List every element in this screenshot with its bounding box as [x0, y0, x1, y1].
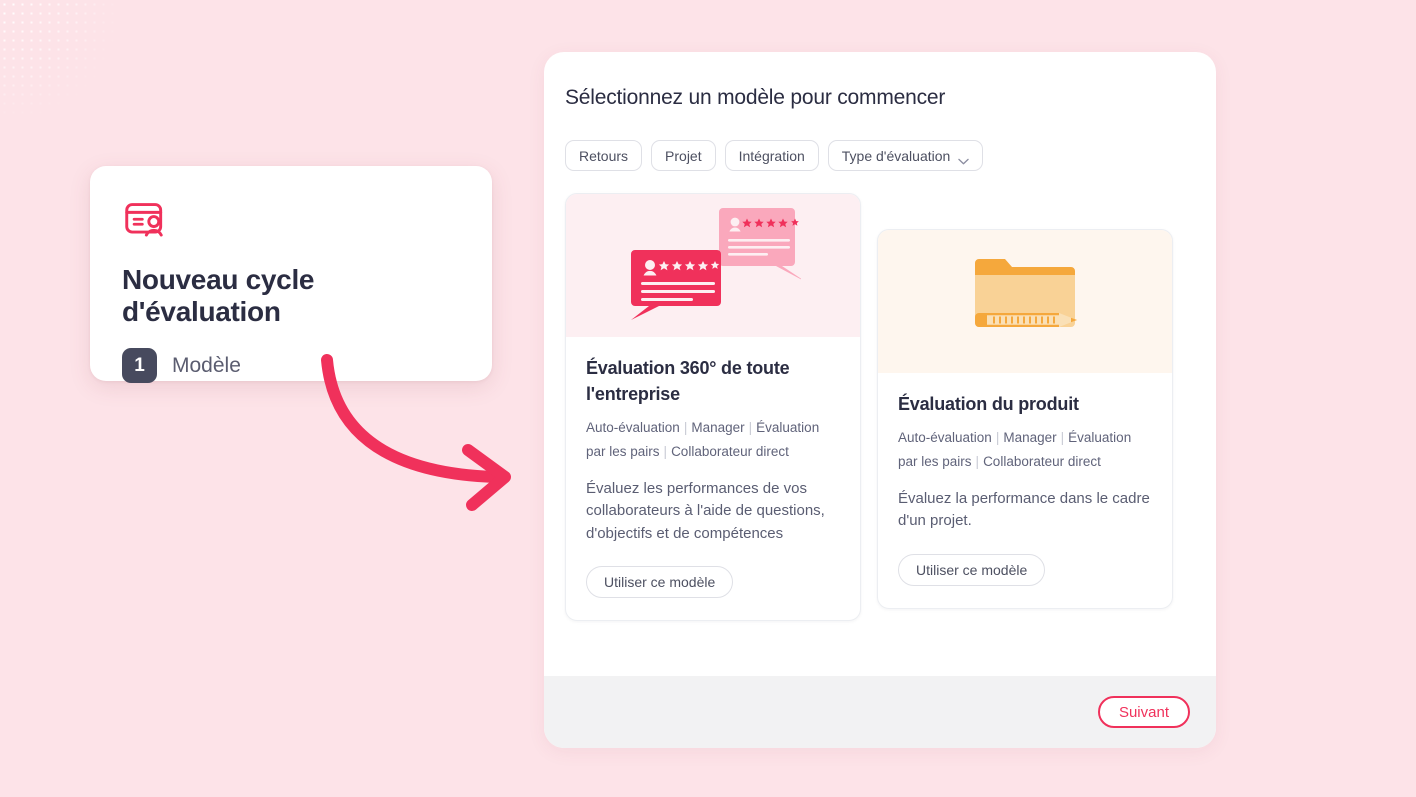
- filter-chip-label: Intégration: [739, 148, 805, 164]
- tag-separator: |: [664, 444, 668, 459]
- template-name: Évaluation 360° de toute l'entreprise: [586, 355, 840, 407]
- template-tag: Manager: [691, 420, 744, 435]
- template-description: Évaluez les performances de vos collabor…: [586, 478, 840, 546]
- step-card: Nouveau cycle d'évaluation 1 Modèle: [90, 166, 492, 381]
- template-thumbnail: [566, 194, 860, 337]
- next-button[interactable]: Suivant: [1098, 696, 1190, 728]
- chevron-down-icon: [958, 152, 969, 159]
- filter-chip-label: Projet: [665, 148, 702, 164]
- template-tag: Collaborateur direct: [671, 444, 789, 459]
- template-thumbnail: [878, 230, 1172, 373]
- template-tags: Auto-évaluation|Manager|Évaluation par l…: [898, 426, 1152, 475]
- tag-separator: |: [976, 454, 980, 469]
- use-template-button[interactable]: Utiliser ce modèle: [898, 554, 1045, 586]
- panel-footer: Suivant: [544, 676, 1216, 748]
- filter-chip-projet[interactable]: Projet: [651, 140, 716, 171]
- background-dot-pattern: [0, 0, 190, 190]
- id-badge-person-icon: [122, 200, 460, 244]
- template-name: Évaluation du produit: [898, 391, 1152, 417]
- template-tag: Auto-évaluation: [586, 420, 680, 435]
- template-tag: Auto-évaluation: [898, 430, 992, 445]
- review-chat-bubbles-icon: [625, 204, 801, 327]
- filter-chip-row: Retours Projet Intégration Type d'évalua…: [565, 140, 1196, 171]
- filter-chip-label: Retours: [579, 148, 628, 164]
- tag-separator: |: [996, 430, 1000, 445]
- panel-title: Sélectionnez un modèle pour commencer: [565, 86, 1196, 110]
- filter-chip-retours[interactable]: Retours: [565, 140, 642, 171]
- tag-separator: |: [1061, 430, 1065, 445]
- template-tags: Auto-évaluation|Manager|Évaluation par l…: [586, 416, 840, 465]
- template-selection-panel: Sélectionnez un modèle pour commencer Re…: [544, 52, 1216, 748]
- template-tag: Collaborateur direct: [983, 454, 1101, 469]
- template-tag: Manager: [1003, 430, 1056, 445]
- filter-chip-integration[interactable]: Intégration: [725, 140, 819, 171]
- template-description: Évaluez la performance dans le cadre d'u…: [898, 488, 1152, 533]
- filter-chip-label: Type d'évaluation: [842, 148, 951, 164]
- tag-separator: |: [749, 420, 753, 435]
- step-label: Modèle: [172, 354, 241, 378]
- template-card[interactable]: Évaluation 360° de toute l'entreprise Au…: [565, 193, 861, 621]
- template-card[interactable]: Évaluation du produit Auto-évaluation|Ma…: [877, 229, 1173, 609]
- filter-chip-type-evaluation[interactable]: Type d'évaluation: [828, 140, 984, 171]
- page-title: Nouveau cycle d'évaluation: [122, 264, 460, 328]
- step-number-badge: 1: [122, 348, 157, 383]
- use-template-button[interactable]: Utiliser ce modèle: [586, 566, 733, 598]
- step-indicator: 1 Modèle: [122, 348, 460, 383]
- folder-pencil-icon: [965, 251, 1085, 352]
- tag-separator: |: [684, 420, 688, 435]
- template-card-list: Évaluation 360° de toute l'entreprise Au…: [565, 193, 1196, 621]
